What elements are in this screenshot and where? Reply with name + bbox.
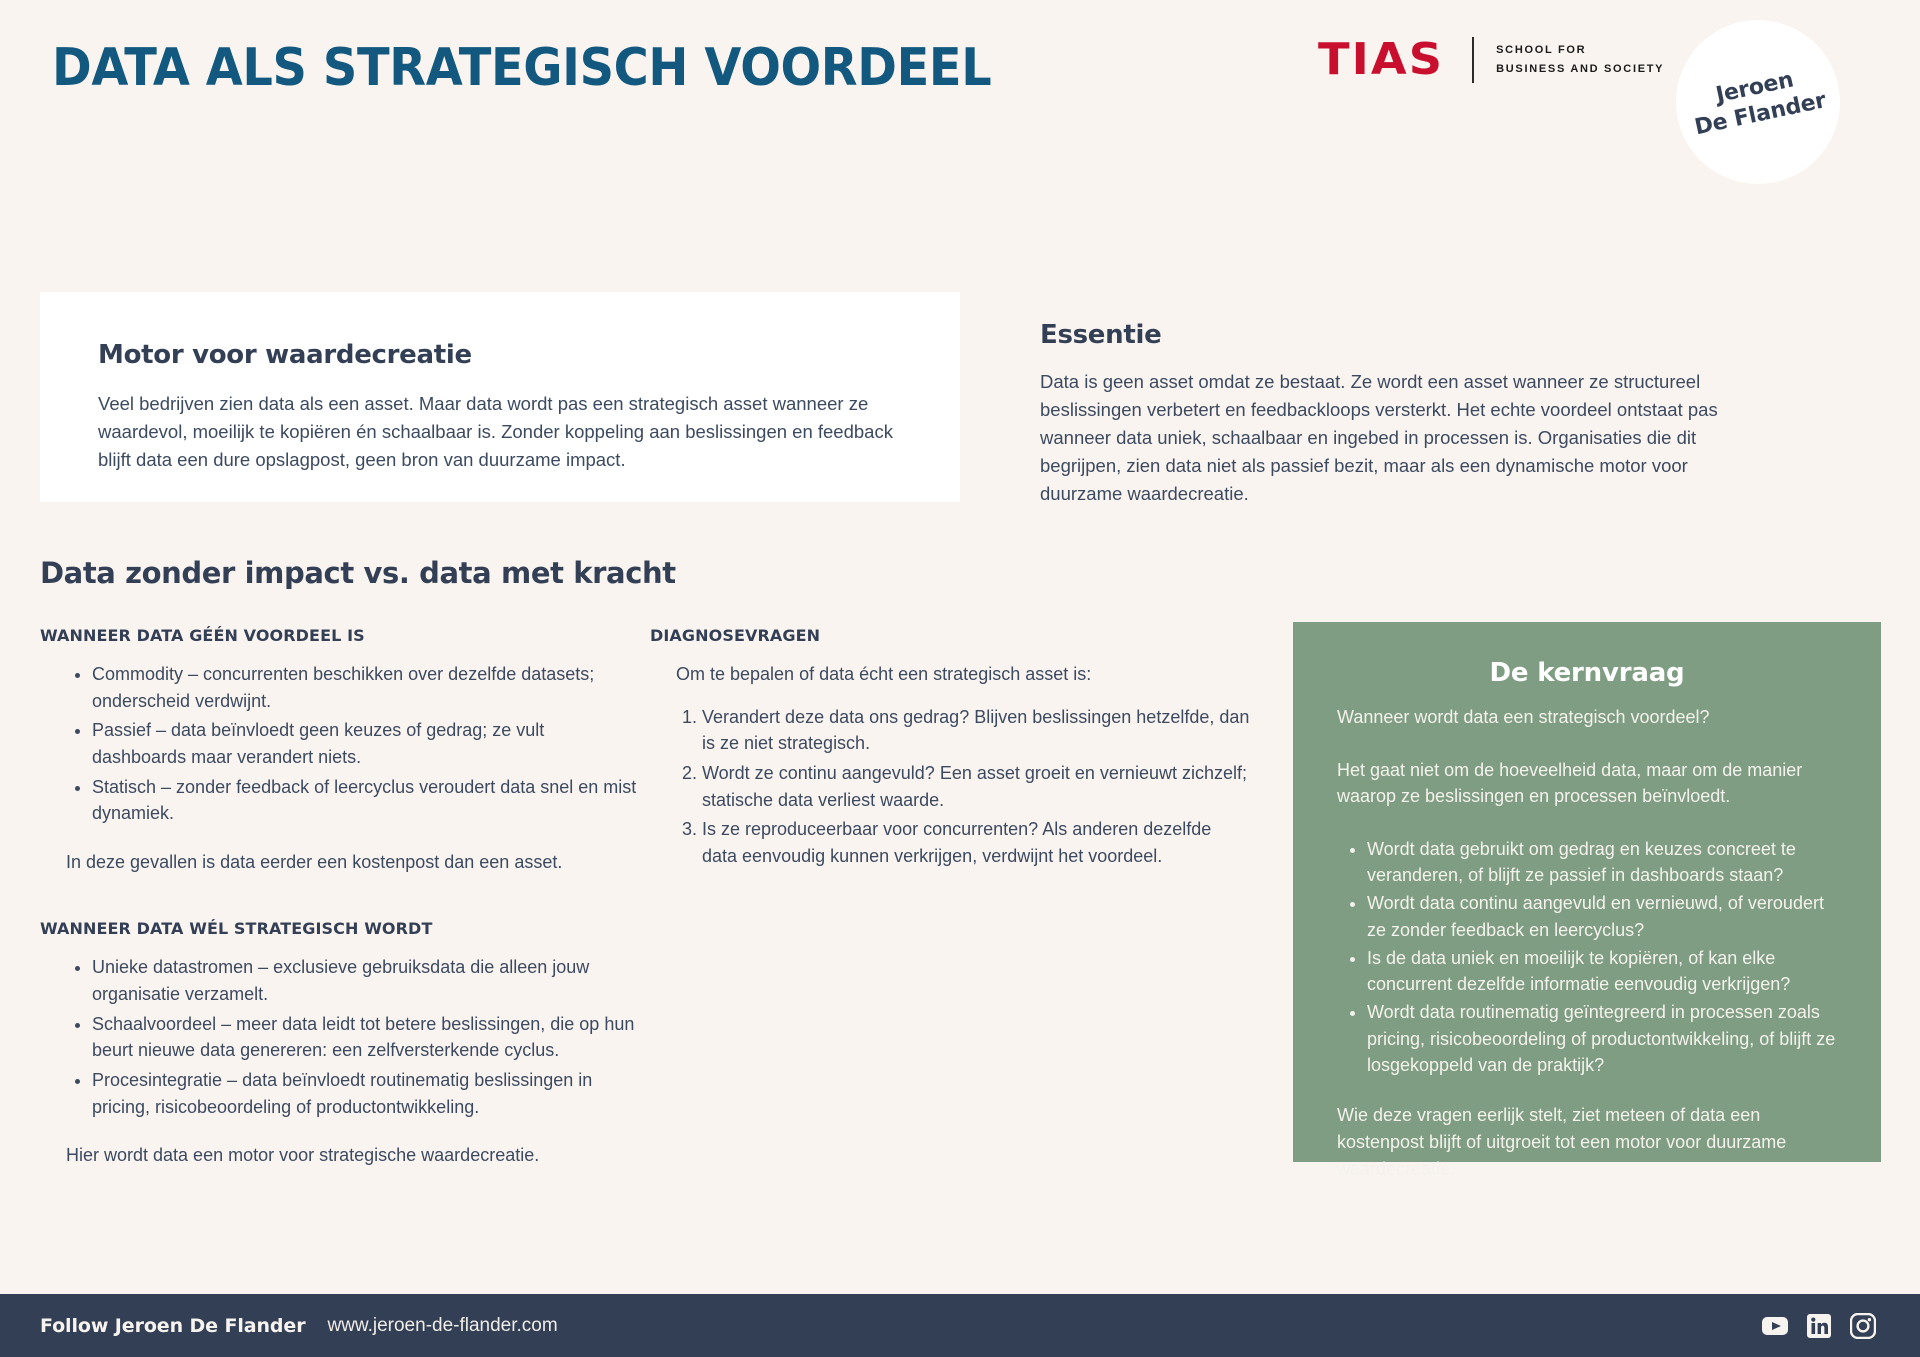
list-item: Verandert deze data ons gedrag? Blijven … <box>702 704 1250 757</box>
tias-logo: TIAS SCHOOL FOR BUSINESS AND SOCIETY <box>1318 32 1664 88</box>
list-item: Commodity – concurrenten beschikken over… <box>92 661 640 714</box>
author-badge-text: Jeroen De Flander <box>1687 62 1829 142</box>
footer-website-url[interactable]: www.jeroen-de-flander.com <box>327 1315 557 1337</box>
logo-divider <box>1472 37 1474 83</box>
list-item: Statisch – zonder feedback of leercyclus… <box>92 774 640 827</box>
page-title: DATA ALS STRATEGISCH VOORDEEL <box>52 38 991 98</box>
card-motor-title: Motor voor waardecreatie <box>98 340 900 370</box>
list-item: Wordt data continu aangevuld en vernieuw… <box>1367 890 1837 943</box>
list-item: Is de data uniek en moeilijk te kopiëren… <box>1367 945 1837 998</box>
list-geen-voordeel: Commodity – concurrenten beschikken over… <box>40 661 640 827</box>
block-essentie: Essentie Data is geen asset omdat ze bes… <box>1040 320 1740 509</box>
panel-subtitle: Wanneer wordt data een strategisch voord… <box>1337 704 1837 731</box>
tias-tagline-line2: BUSINESS AND SOCIETY <box>1496 63 1664 75</box>
list-item: Wordt ze continu aangevuld? Een asset gr… <box>702 760 1250 813</box>
tias-tagline-line1: SCHOOL FOR <box>1496 44 1586 56</box>
column-left: WANNEER DATA GÉÉN VOORDEEL IS Commodity … <box>40 626 640 1169</box>
footer-follow-label: Follow Jeroen De Flander <box>40 1315 305 1337</box>
list-item: Is ze reproduceerbaar voor concurrenten?… <box>702 816 1250 869</box>
kicker-diagnosevragen: DIAGNOSEVRAGEN <box>650 626 1250 645</box>
panel-closing: Wie deze vragen eerlijk stelt, ziet mete… <box>1337 1102 1837 1182</box>
list-item: Wordt data gebruikt om gedrag en keuzes … <box>1367 836 1837 889</box>
list-item: Passief – data beïnvloedt geen keuzes of… <box>92 717 640 770</box>
kicker-geen-voordeel: WANNEER DATA GÉÉN VOORDEEL IS <box>40 626 640 645</box>
note-kostenpost: In deze gevallen is data eerder een kost… <box>66 849 640 876</box>
diagnosevragen-intro: Om te bepalen of data écht een strategis… <box>676 661 1250 688</box>
column-middle: DIAGNOSEVRAGEN Om te bepalen of data éch… <box>650 626 1250 872</box>
list-item: Unieke datastromen – exclusieve gebruiks… <box>92 954 640 1007</box>
tias-tagline: SCHOOL FOR BUSINESS AND SOCIETY <box>1496 41 1664 80</box>
essentie-title: Essentie <box>1040 320 1740 350</box>
card-motor-body: Veel bedrijven zien data als een asset. … <box>98 390 900 474</box>
note-motor-waardecreatie: Hier wordt data een motor voor strategis… <box>66 1142 640 1169</box>
essentie-body: Data is geen asset omdat ze bestaat. Ze … <box>1040 368 1740 509</box>
list-diagnosevragen: Verandert deze data ons gedrag? Blijven … <box>650 704 1250 870</box>
author-badge: Jeroen De Flander <box>1676 20 1840 184</box>
page-header: DATA ALS STRATEGISCH VOORDEEL TIAS SCHOO… <box>0 0 1920 215</box>
card-motor-voor-waardecreatie: Motor voor waardecreatie Veel bedrijven … <box>40 292 960 502</box>
social-links <box>1760 1311 1878 1341</box>
kicker-wel-strategisch: WANNEER DATA WÉL STRATEGISCH WORDT <box>40 919 640 938</box>
tias-wordmark: TIAS <box>1318 38 1444 82</box>
list-item: Procesintegratie – data beïnvloedt routi… <box>92 1067 640 1120</box>
panel-question-list: Wordt data gebruikt om gedrag en keuzes … <box>1337 836 1837 1078</box>
page-footer: Follow Jeroen De Flander www.jeroen-de-f… <box>0 1294 1920 1357</box>
linkedin-icon[interactable] <box>1804 1311 1834 1341</box>
section-heading: Data zonder impact vs. data met kracht <box>40 556 676 590</box>
list-item: Wordt data routinematig geïntegreerd in … <box>1367 999 1837 1078</box>
panel-de-kernvraag: De kernvraag Wanneer wordt data een stra… <box>1293 622 1881 1162</box>
panel-lead: Het gaat niet om de hoeveelheid data, ma… <box>1337 757 1837 810</box>
list-wel-strategisch: Unieke datastromen – exclusieve gebruiks… <box>40 954 640 1120</box>
youtube-icon[interactable] <box>1760 1311 1790 1341</box>
panel-title: De kernvraag <box>1337 658 1837 688</box>
instagram-icon[interactable] <box>1848 1311 1878 1341</box>
list-item: Schaalvoordeel – meer data leidt tot bet… <box>92 1011 640 1064</box>
